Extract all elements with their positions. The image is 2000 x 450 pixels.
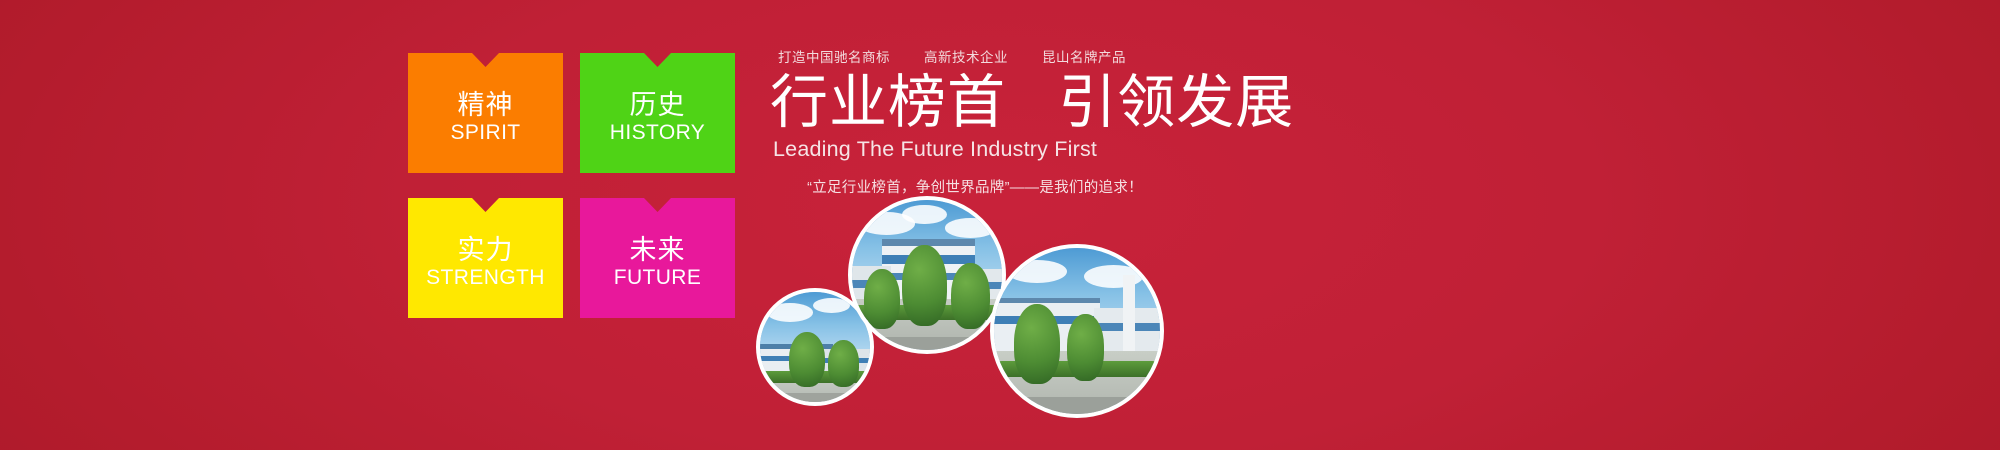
value-tile-spirit-en-label: SPIRIT bbox=[450, 121, 520, 145]
factory-photo-center-scene bbox=[852, 200, 1002, 350]
tree bbox=[1067, 314, 1104, 380]
cloud-puff-icon bbox=[813, 298, 850, 313]
factory-photo-center[interactable] bbox=[848, 196, 1006, 354]
value-tile-strength-en-label: STRENGTH bbox=[426, 266, 545, 290]
value-tile-future[interactable]: 未来 FUTURE bbox=[580, 198, 735, 318]
tagline-item-1: 高新技术企业 bbox=[924, 46, 1008, 66]
value-tile-history-cn-label: 历史 bbox=[630, 91, 686, 119]
value-tile-spirit[interactable]: 精神 SPIRIT bbox=[408, 53, 563, 173]
credential-tagline-row: 打造中国驰名商标 高新技术企业 昆山名牌产品 bbox=[770, 46, 1190, 66]
value-tile-strength[interactable]: 实力 STRENGTH bbox=[408, 198, 563, 318]
cloud-puff-icon bbox=[767, 303, 813, 322]
headline-part-2: 引领发展 bbox=[1058, 70, 1294, 135]
promo-banner: 精神 SPIRIT 历史 HISTORY 实力 STRENGTH 未来 FUTU… bbox=[0, 0, 2000, 450]
value-tile-strength-cn-label: 实力 bbox=[458, 236, 514, 264]
chimney-stack bbox=[1123, 275, 1135, 351]
factory-photo-cluster bbox=[748, 185, 1168, 450]
road bbox=[760, 393, 870, 402]
building-roofline bbox=[991, 298, 1101, 303]
value-tile-history-en-label: HISTORY bbox=[610, 121, 705, 145]
value-tile-spirit-cn-label: 精神 bbox=[458, 91, 514, 119]
factory-photo-right[interactable] bbox=[990, 244, 1164, 418]
tree bbox=[864, 269, 900, 329]
cloud-puff-icon bbox=[902, 205, 947, 225]
headline-part-1: 行业榜首 bbox=[770, 70, 1006, 135]
tagline-item-0: 打造中国驰名商标 bbox=[778, 46, 890, 66]
value-tile-future-cn-label: 未来 bbox=[630, 236, 686, 264]
banner-headline: 行业榜首 引领发展 bbox=[770, 73, 1190, 133]
tree bbox=[1014, 304, 1060, 384]
tagline-item-2: 昆山名牌产品 bbox=[1042, 46, 1126, 66]
tree bbox=[789, 332, 825, 387]
value-tile-grid: 精神 SPIRIT 历史 HISTORY 实力 STRENGTH 未来 FUTU… bbox=[408, 53, 718, 318]
value-tile-future-en-label: FUTURE bbox=[614, 266, 702, 290]
banner-subheadline: Leading The Future Industry First bbox=[770, 137, 1190, 162]
banner-copy: 打造中国驰名商标 高新技术企业 昆山名牌产品 行业榜首 引领发展 Leading… bbox=[770, 46, 1190, 197]
value-tile-history[interactable]: 历史 HISTORY bbox=[580, 53, 735, 173]
tree bbox=[951, 263, 990, 329]
cloud-puff-icon bbox=[1007, 260, 1067, 283]
road bbox=[994, 397, 1160, 414]
road bbox=[852, 337, 1002, 351]
tree bbox=[902, 245, 947, 326]
cloud-puff-icon bbox=[945, 218, 996, 238]
factory-photo-right-scene bbox=[994, 248, 1160, 414]
